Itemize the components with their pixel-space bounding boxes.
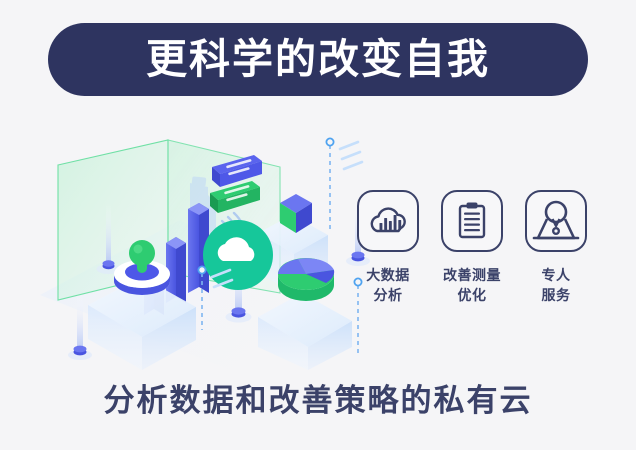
feature-item-dedicated-service[interactable]: 专人 服务 (520, 190, 592, 306)
feature-label-line1: 改善测量 (443, 267, 501, 283)
feature-label-line1: 大数据 (366, 267, 410, 283)
feature-item-big-data-analysis[interactable]: 大数据 分析 (352, 190, 424, 306)
header-banner: 更科学的改变自我 (48, 23, 588, 96)
support-person-icon (525, 190, 587, 252)
feature-label-line2: 优化 (458, 287, 487, 303)
footer-tagline: 分析数据和改善策略的私有云 (0, 385, 636, 416)
feature-label-measurement-optimization: 改善测量 优化 (443, 265, 501, 306)
feature-label-line2: 服务 (542, 287, 571, 303)
isometric-illustration (40, 125, 370, 370)
feature-label-line2: 分析 (374, 287, 403, 303)
feature-list: 大数据 分析 改善测量 优化 (352, 190, 592, 306)
feature-label-line1: 专人 (542, 267, 571, 283)
pie-chart-3d (278, 258, 334, 301)
feature-item-measurement-optimization[interactable]: 改善测量 优化 (436, 190, 508, 306)
feature-label-big-data-analysis: 大数据 分析 (366, 265, 410, 306)
page-title: 更科学的改变自我 (146, 39, 490, 80)
feature-label-dedicated-service: 专人 服务 (542, 265, 571, 306)
clipboard-icon (441, 190, 503, 252)
cloud-bar-chart-icon (357, 190, 419, 252)
